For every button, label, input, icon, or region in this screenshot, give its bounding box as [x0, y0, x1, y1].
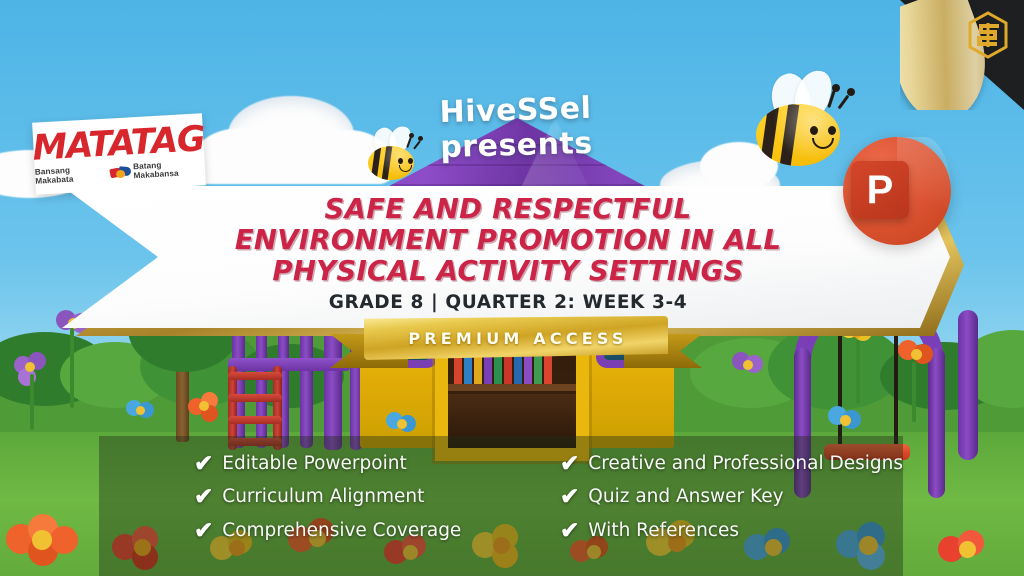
powerpoint-letter: P	[867, 170, 894, 210]
matatag-logo: MATATAG Bansang Makabata Batang Makabans…	[32, 113, 206, 194]
flower-stem	[912, 362, 916, 422]
flower-stem	[30, 374, 34, 430]
ribbon-band: PREMIUM ACCESS	[364, 316, 668, 360]
banner-title-line-1: SAFE AND RESPECTFUL	[158, 194, 858, 225]
title-banner: SAFE AND RESPECTFUL ENVIRONMENT PROMOTIO…	[62, 186, 964, 334]
feature-label: Quiz and Answer Key	[588, 486, 783, 507]
matatag-tagline-right: Batang Makabansa	[133, 158, 206, 180]
features-overlay-panel: ✔ Editable Powerpoint ✔ Curriculum Align…	[99, 436, 903, 576]
banner-title-line-3: PHYSICAL ACTIVITY SETTINGS	[158, 256, 858, 287]
features-column-left: ✔ Editable Powerpoint ✔ Curriculum Align…	[194, 450, 474, 576]
feature-item: ✔ Editable Powerpoint	[194, 450, 474, 474]
poster-canvas: HiveSSel presents MATATAG Bansang Makaba…	[0, 0, 1024, 576]
powerpoint-icon: P	[843, 137, 951, 245]
feature-label: Creative and Professional Designs	[588, 453, 903, 474]
feature-item: ✔ Creative and Professional Designs	[560, 450, 903, 474]
swing-leg	[928, 348, 945, 498]
flower-stem	[70, 328, 74, 408]
swing-rope	[838, 334, 842, 446]
banner-text-block: SAFE AND RESPECTFUL ENVIRONMENT PROMOTIO…	[158, 194, 858, 313]
feature-label: Editable Powerpoint	[222, 453, 406, 474]
matatag-tagline-left: Bansang Makabata	[35, 164, 108, 186]
feature-item: ✔ With References	[560, 517, 903, 541]
feature-item: ✔ Quiz and Answer Key	[560, 483, 903, 507]
feature-label: With References	[588, 520, 739, 541]
features-column-right: ✔ Creative and Professional Designs ✔ Qu…	[560, 450, 903, 576]
ribbon-label: PREMIUM ACCESS	[404, 329, 627, 348]
check-icon: ✔	[560, 452, 579, 475]
check-icon: ✔	[194, 452, 213, 475]
flower-stem	[856, 340, 860, 404]
check-icon: ✔	[560, 485, 579, 508]
powerpoint-letter-tile: P	[851, 161, 909, 219]
check-icon: ✔	[194, 485, 213, 508]
hivessel-hex-logo-icon	[966, 11, 1010, 59]
fence-post	[300, 330, 313, 448]
feature-label: Comprehensive Coverage	[222, 520, 461, 541]
clasped-hands-icon	[109, 165, 130, 179]
feature-item: ✔ Curriculum Alignment	[194, 483, 474, 507]
check-icon: ✔	[194, 519, 213, 542]
feature-label: Curriculum Alignment	[222, 486, 424, 507]
premium-access-ribbon: PREMIUM ACCESS	[330, 316, 702, 374]
presents-headline: HiveSSel presents	[365, 89, 667, 167]
banner-subtitle: GRADE 8 | QUARTER 2: WEEK 3-4	[158, 292, 858, 313]
banner-title-line-2: ENVIRONMENT PROMOTION IN ALL	[158, 225, 858, 256]
feature-item: ✔ Comprehensive Coverage	[194, 517, 474, 541]
check-icon: ✔	[560, 519, 579, 542]
